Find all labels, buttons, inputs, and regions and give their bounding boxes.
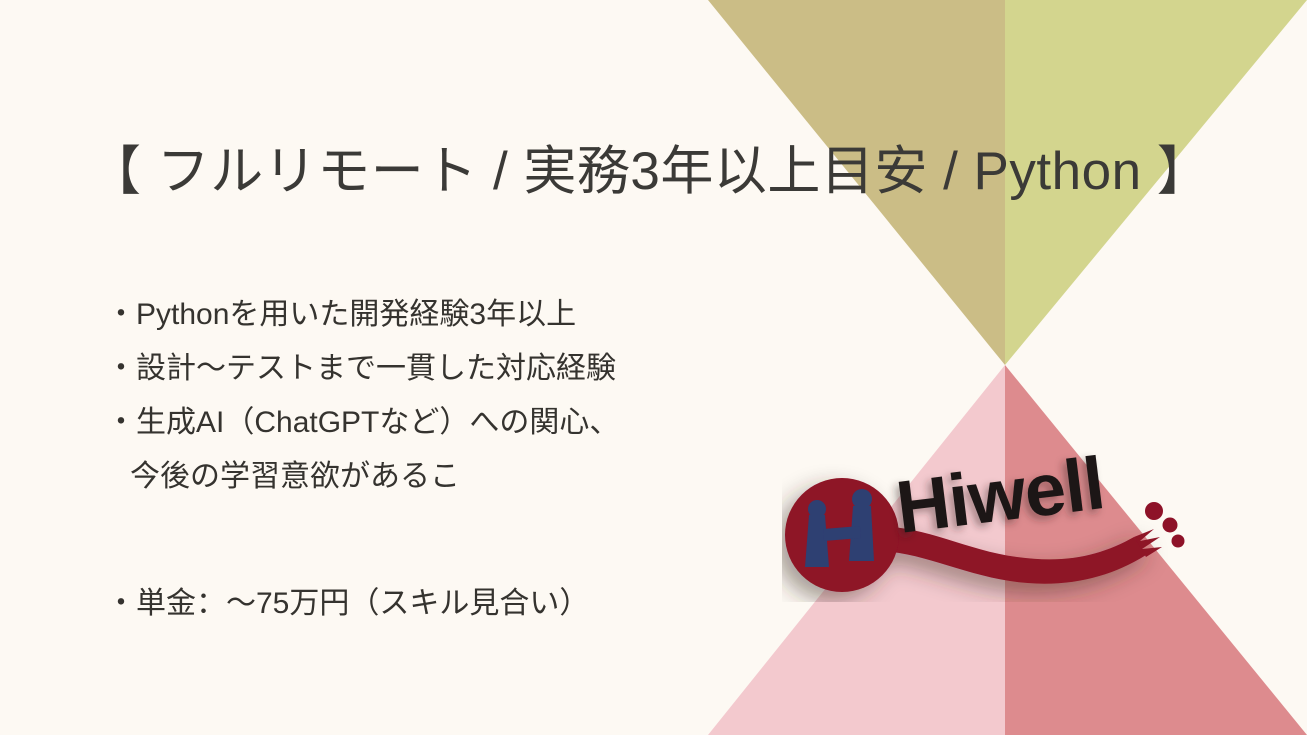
page-title: 【 フルリモート / 実務3年以上目安 / Python 】 (88, 143, 1210, 201)
list-item: ・Pythonを用いた開発経験3年以上 (106, 300, 619, 330)
slide-canvas: 【 フルリモート / 実務3年以上目安 / Python 】 ・Pythonを用… (0, 0, 1307, 735)
rate-line: ・単金：〜75万円（スキル見合い） (106, 578, 589, 622)
logo-dot-1 (1145, 502, 1163, 520)
logo-dot-3 (1172, 535, 1185, 548)
requirements-list: ・Pythonを用いた開発経験3年以上 ・設計〜テストまで一貫した対応経験 ・生… (106, 300, 619, 516)
list-item: ・生成AI（ChatGPTなど）への関心、 (106, 408, 619, 438)
logo-dot-2 (1163, 518, 1178, 533)
hiwell-logo: Hiwell (782, 437, 1192, 602)
logo-wordmark: Hiwell (892, 441, 1108, 549)
list-item: 今後の学習意欲があるこ (106, 462, 619, 492)
list-item: ・設計〜テストまで一貫した対応経験 (106, 354, 619, 384)
